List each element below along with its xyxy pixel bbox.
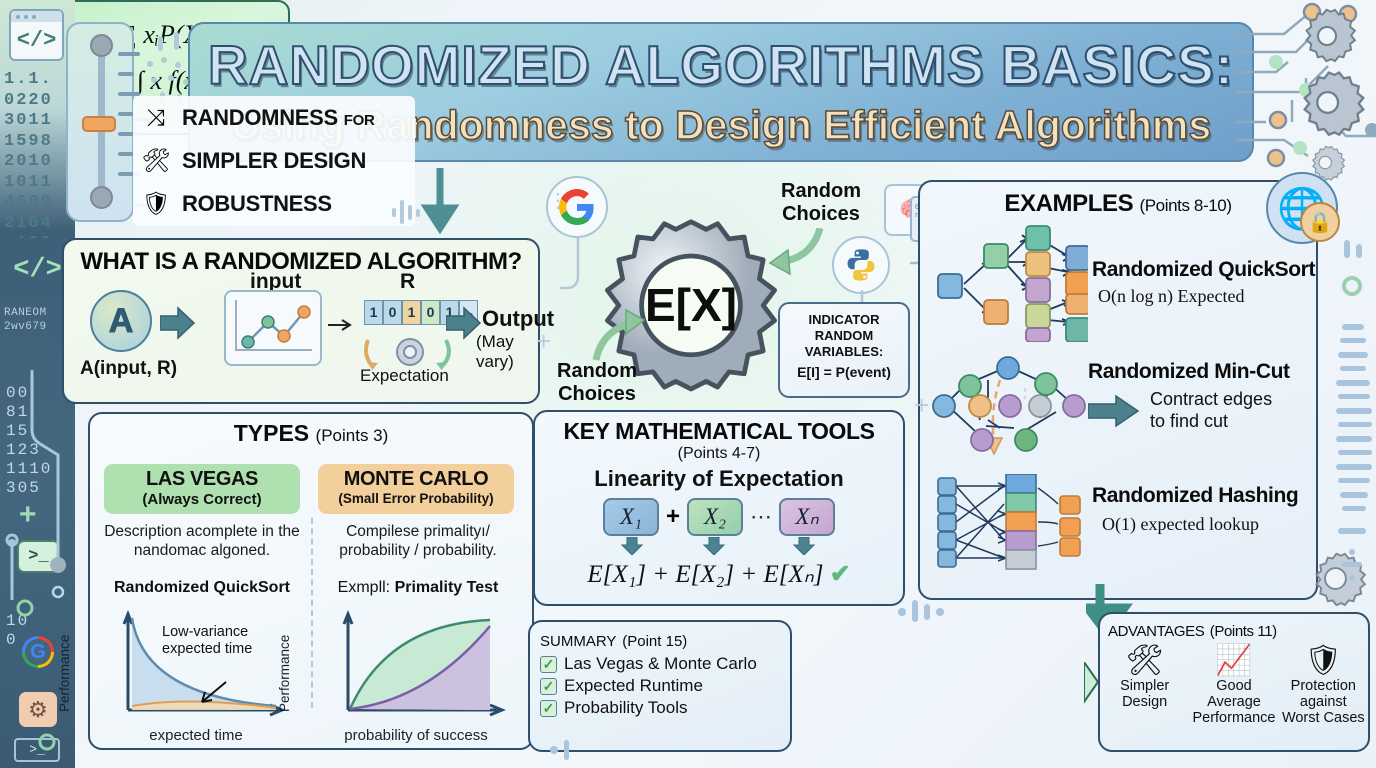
summary-item: ✓Probability Tools — [540, 698, 790, 718]
las-vegas-xlabel: expected time — [98, 727, 294, 744]
shield-check-icon: 🛡 — [139, 189, 173, 219]
indicator-random-variables-box: INDICATOR RANDOM VARIABLES: E[I] = P(eve… — [778, 302, 910, 398]
random-choices-top-label: RandomChoices — [766, 180, 876, 226]
term-x1: X₁ — [603, 498, 659, 536]
r-label: R — [400, 270, 415, 294]
indicator-line-2: RANDOM — [780, 328, 908, 344]
check-icon: ✓ — [540, 678, 557, 695]
benefit-row-randomness: ⤨ RANDOMNESS FOR — [133, 96, 415, 139]
key-benefits-overlay: ⤨ RANDOMNESS FOR 🛠 SIMPLER DESIGN 🛡 ROBU… — [133, 96, 415, 226]
page-title: RANDOMIZED ALGORITHMS BASICS: — [190, 34, 1252, 96]
las-vegas-chart: Performance Low-varianceexpected time ex… — [98, 610, 294, 740]
las-vegas-ylabel: Performance — [57, 622, 72, 712]
low-variance-annotation: Low-varianceexpected time — [162, 624, 252, 658]
advantages-items: 🛠 Simpler Design 📈 Good Average Performa… — [1100, 644, 1368, 726]
ellipsis: ⋯ — [750, 504, 772, 530]
indicator-line-3: VARIABLES: — [780, 344, 908, 360]
example-name-hashing: Randomized Hashing — [1092, 484, 1298, 508]
types-title: TYPES (Points 3) — [90, 420, 532, 447]
monte-carlo-ylabel: Performance — [277, 622, 292, 712]
dots-decoration-upper: ⋮ — [548, 188, 568, 213]
random-choices-top-arrow — [760, 228, 830, 288]
monte-carlo-subtitle: (Small Error Probability) — [318, 491, 514, 506]
tools-icon: 🛠 — [139, 146, 173, 176]
benefit-row-robustness: 🛡 ROBUSTNESS — [133, 182, 415, 225]
monte-carlo-tag: MONTE CARLO (Small Error Probability) — [318, 464, 514, 514]
arrow-to-bits — [328, 318, 356, 332]
linearity-result: E[X₁] + E[X₂] + E[Xₙ] ✔ — [535, 559, 903, 589]
monte-carlo-example: Exmpll: Primality Test — [318, 579, 518, 597]
mincut-graph-diagram — [928, 354, 1088, 464]
las-vegas-title: LAS VEGAS — [104, 468, 300, 491]
input-chart — [224, 290, 322, 366]
bit-cell: 1 — [364, 300, 383, 325]
dots-decoration-left — [548, 736, 608, 766]
example-detail-mincut: Contract edges to find cut — [1150, 388, 1278, 432]
example-name-quicksort: Randomized QuickSort — [1092, 258, 1315, 282]
wave-decoration — [390, 196, 430, 228]
example-detail-quicksort: O(n log n) Expected — [1098, 286, 1244, 307]
arrow-to-input — [160, 306, 200, 340]
random-choices-bottom-arrow — [590, 306, 660, 366]
code-glyph: </> — [11, 22, 62, 60]
linearity-terms: X₁ + X₂ ⋯ Xₙ — [535, 498, 903, 536]
python-icon[interactable] — [832, 236, 890, 294]
down-arrows — [549, 537, 889, 555]
mincut-arrow — [1088, 394, 1144, 428]
window-titlebar — [11, 11, 62, 22]
slider-knob-bottom[interactable] — [90, 186, 113, 209]
check-icon: ✓ — [540, 700, 557, 717]
sidebar-numbers-top: 1.1. 0220 3011 1598 2010 1011 4689 2104 … — [4, 70, 72, 255]
advantage-protection-worst-cases: 🛡 Protection against Worst Cases — [1281, 644, 1365, 726]
las-vegas-description: Description acomplete in the nandomac al… — [102, 522, 302, 560]
math-tools-subtitle: (Points 4-7) — [535, 445, 903, 463]
expectation-label: Expectation — [360, 366, 449, 386]
indicator-formula: E[I] = P(event) — [780, 364, 908, 380]
hashing-diagram — [930, 474, 1090, 574]
advantage-simpler-design: 🛠 Simpler Design — [1103, 644, 1187, 726]
tools-icon: 🛠 — [1103, 644, 1187, 678]
gear-icon[interactable]: ⚙ — [19, 692, 57, 727]
shuffle-icon: ⤨ — [139, 103, 173, 133]
infographic-root: </> 1.1. 0220 3011 1598 2010 1011 4689 2… — [0, 0, 1376, 768]
math-tools-panel: KEY MATHEMATICAL TOOLS (Points 4-7) Line… — [533, 410, 905, 606]
summary-panel: SUMMARY (Point 15) ✓Las Vegas & Monte Ca… — [528, 620, 792, 752]
las-vegas-subtitle: (Always Correct) — [104, 491, 300, 508]
gears-decoration — [1296, 6, 1376, 186]
plus-sign: + — [666, 503, 680, 531]
quicksort-tree-diagram — [928, 224, 1088, 342]
terminal-icon[interactable]: >_ — [17, 540, 60, 573]
benefit-label-simpler-design: SIMPLER DESIGN — [182, 148, 366, 174]
dots-decoration-bottom — [896, 594, 946, 634]
slider-knob-top[interactable] — [90, 34, 113, 57]
check-icon: ✓ — [540, 656, 557, 673]
plus-decoration-left: + — [536, 326, 551, 357]
benefit-row-simpler-design: 🛠 SIMPLER DESIGN — [133, 139, 415, 182]
google-connector-line — [560, 236, 610, 306]
bit-cell: 1 — [402, 300, 421, 325]
benefit-label-robustness: ROBUSTNESS — [182, 191, 332, 217]
types-panel: TYPES (Points 3) LAS VEGAS (Always Corre… — [88, 412, 534, 750]
randomness-slider[interactable] — [66, 22, 134, 222]
las-vegas-example: Randomized QuickSort — [102, 579, 302, 597]
google-icon[interactable] — [22, 636, 54, 668]
algorithm-circle: A — [90, 290, 152, 352]
algorithm-caption: A(input, R) — [80, 358, 177, 380]
summary-item: ✓Las Vegas & Monte Carlo — [540, 654, 790, 674]
right-edge-bars-decoration — [1334, 240, 1376, 640]
monte-carlo-title: MONTE CARLO — [318, 468, 514, 491]
math-tools-title: KEY MATHEMATICAL TOOLS — [535, 418, 903, 445]
term-x2: X₂ — [687, 498, 743, 536]
advantage-good-average-performance: 📈 Good Average Performance — [1192, 644, 1276, 726]
output-sublabel: (May vary) — [476, 332, 538, 372]
indicator-line-1: INDICATOR — [780, 312, 908, 328]
code-window-icon: </> — [9, 9, 64, 61]
monte-carlo-xlabel: probability of success — [318, 727, 514, 744]
monte-carlo-chart: Performance probability of success — [318, 610, 514, 740]
slider-handle[interactable] — [82, 116, 116, 132]
term-xn: Xₙ — [779, 498, 835, 536]
benefit-label-randomness: RANDOMNESS FOR — [182, 105, 374, 131]
monte-carlo-description: Compilese primalityı/ probability / prob… — [318, 522, 518, 560]
linearity-heading: Linearity of Expectation — [535, 466, 903, 492]
terminal-icon-2[interactable]: >_ — [14, 738, 60, 762]
example-detail-hashing: O(1) expected lookup — [1102, 514, 1259, 535]
las-vegas-tag: LAS VEGAS (Always Correct) — [104, 464, 300, 514]
bit-cell: 0 — [421, 300, 440, 325]
example-name-mincut: Randomized Min-Cut — [1088, 360, 1290, 384]
plus-decoration-right: + — [914, 390, 929, 421]
random-choices-bottom-label: RandomChoices — [542, 360, 652, 406]
column-divider — [311, 518, 313, 708]
growth-chart-icon: 📈 — [1192, 644, 1276, 678]
bit-cell: 0 — [383, 300, 402, 325]
shield-check-icon: 🛡 — [1281, 644, 1365, 678]
plus-icon: + — [19, 500, 37, 530]
summary-title: SUMMARY (Point 15) — [540, 628, 790, 652]
what-is-panel: WHAT IS A RANDOMIZED ALGORITHM? A A(inpu… — [62, 238, 540, 404]
summary-item: ✓Expected Runtime — [540, 676, 790, 696]
sidebar-numbers-mid: 00 81 15 123 1110 305 — [6, 384, 74, 498]
